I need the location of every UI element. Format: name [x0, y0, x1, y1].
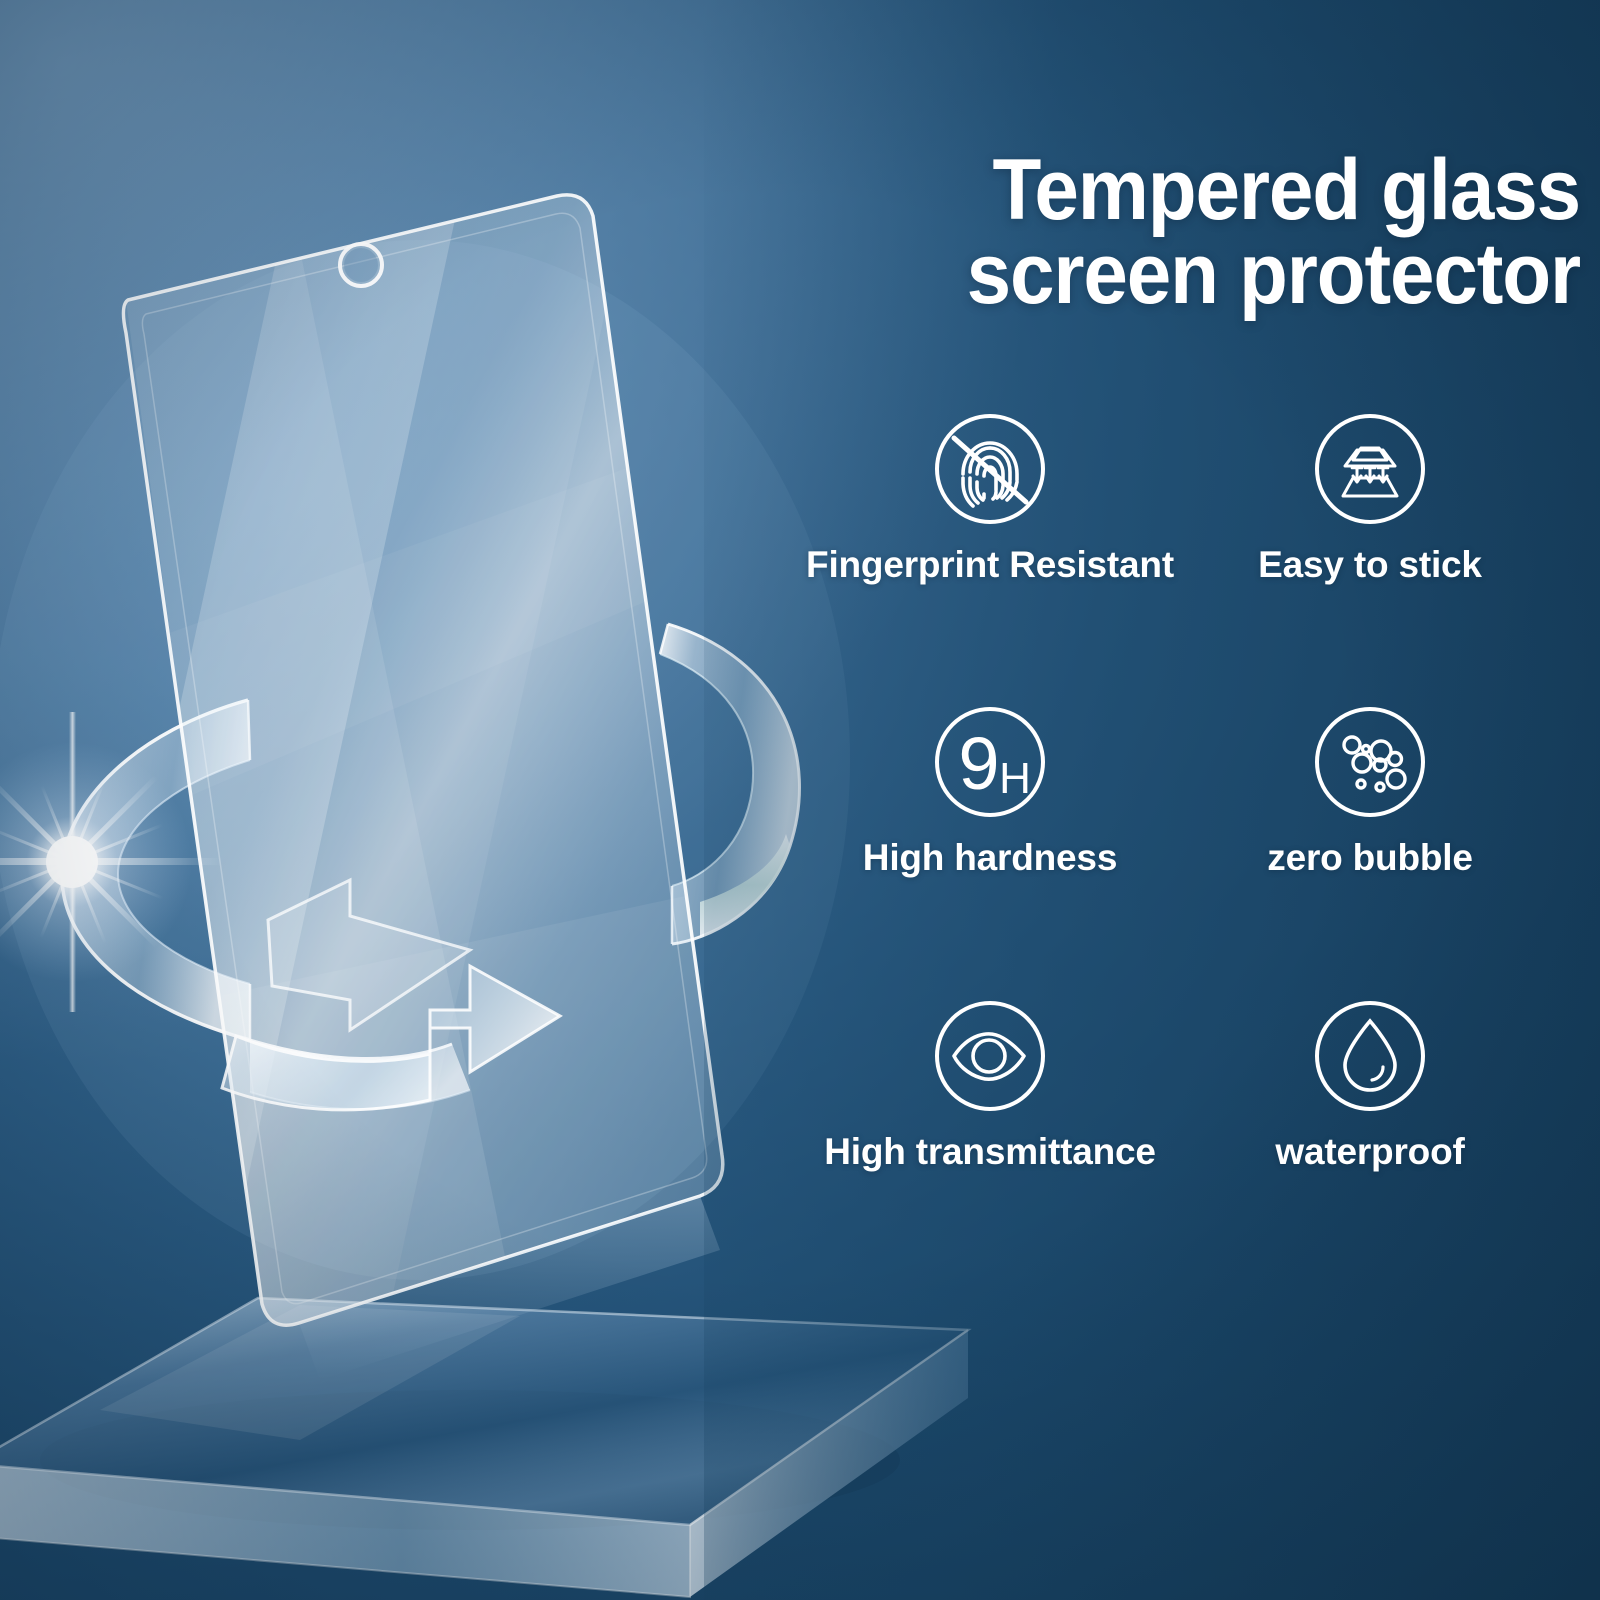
page-title: Tempered glass screen protector: [827, 148, 1580, 317]
product-marketing-image: Tempered glass screen protector: [0, 0, 1600, 1600]
feature-label: High hardness: [863, 837, 1117, 879]
feature-label: zero bubble: [1267, 837, 1472, 879]
fingerprint-resistant-icon: [929, 408, 1051, 530]
feature-waterproof: waterproof: [1180, 995, 1560, 1288]
water-droplet-icon: [1309, 995, 1431, 1117]
page-title-line-1: Tempered glass: [993, 142, 1580, 238]
hardness-suffix: H: [999, 754, 1031, 803]
page-title-line-2: screen protector: [827, 232, 1580, 316]
feature-high-transmittance: High transmittance: [800, 995, 1180, 1288]
zero-bubble-icon: [1309, 701, 1431, 823]
feature-easy-to-stick: Easy to stick: [1180, 408, 1560, 701]
feature-label: Easy to stick: [1258, 544, 1482, 586]
feature-high-hardness: 9 H High hardness: [800, 701, 1180, 994]
eye-transmittance-icon: [929, 995, 1051, 1117]
hardness-number: 9: [958, 722, 999, 805]
feature-zero-bubble: zero bubble: [1180, 701, 1560, 994]
feature-grid: Fingerprint Resistant Easy to stick: [800, 408, 1560, 1288]
easy-to-stick-icon: [1309, 408, 1431, 530]
nine-h-hardness-icon: 9 H: [929, 701, 1051, 823]
feature-label: Fingerprint Resistant: [806, 544, 1174, 586]
feature-fingerprint-resistant: Fingerprint Resistant: [800, 408, 1180, 701]
feature-label: High transmittance: [824, 1131, 1156, 1173]
feature-label: waterproof: [1275, 1131, 1464, 1173]
